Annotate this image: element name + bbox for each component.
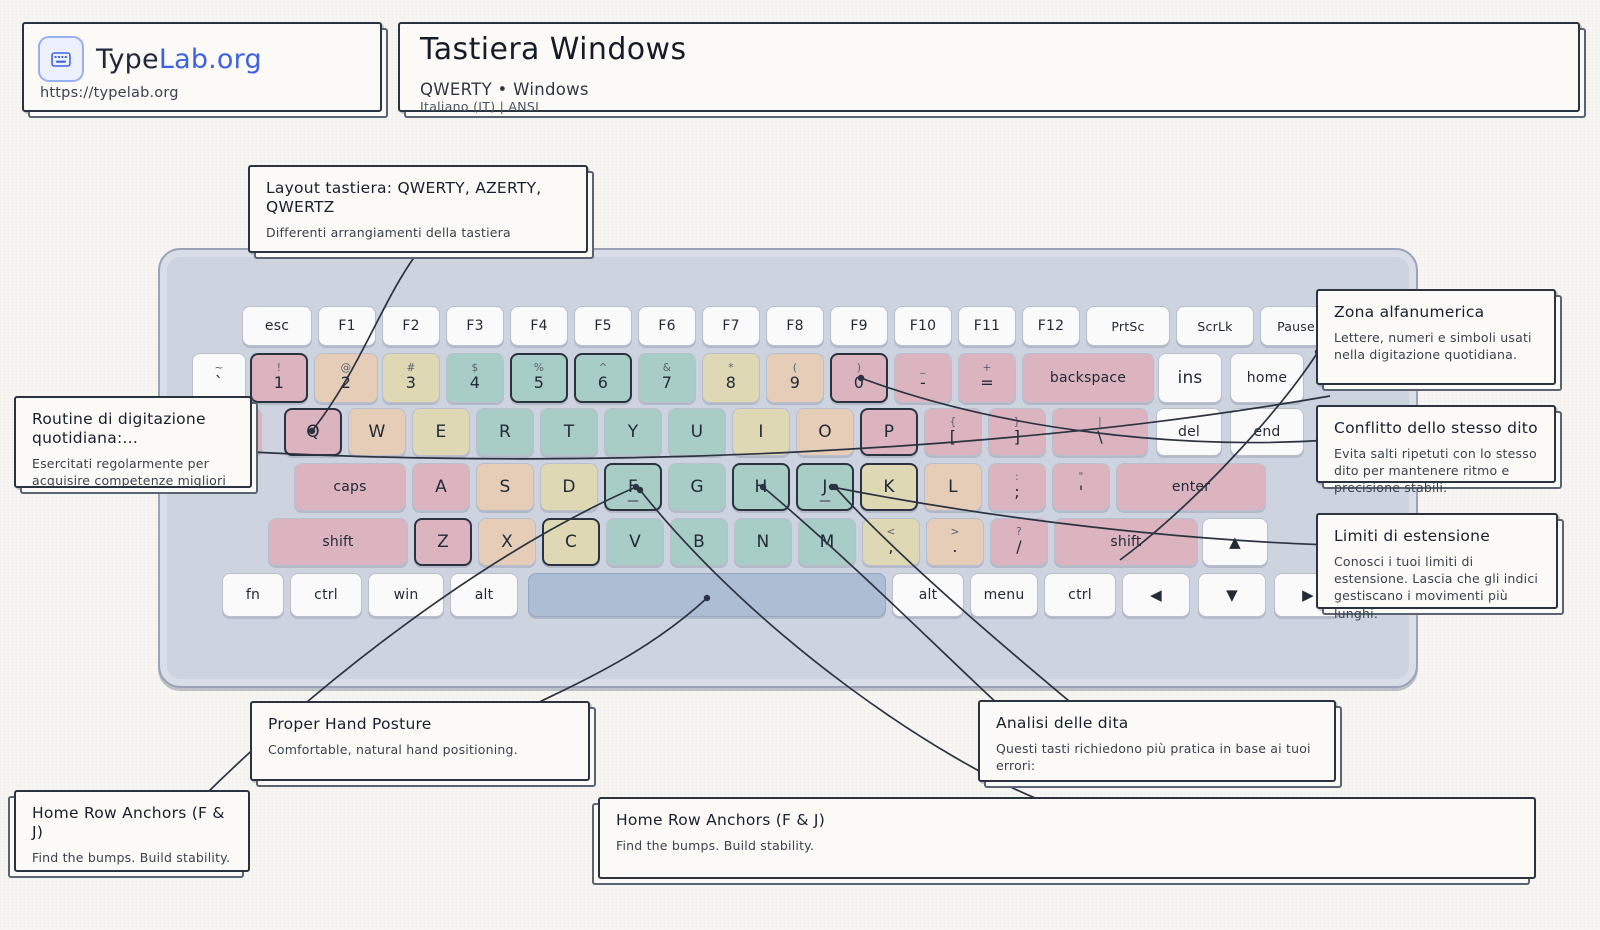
key-l[interactable]: L (924, 463, 982, 511)
callout-title: Proper Hand Posture (268, 715, 572, 734)
callout-title: Limiti di estensione (1334, 527, 1540, 546)
callout-title: Layout tastiera: QWERTY, AZERTY, QWERTZ (266, 179, 570, 217)
key-legend: B (693, 532, 705, 552)
key-base-legend: ' (1079, 484, 1084, 500)
callout-title: Conflitto dello stesso dito (1334, 419, 1538, 438)
key-legend: N (757, 532, 770, 552)
key-shift-legend: $ (472, 363, 479, 374)
key-legend: U (691, 422, 704, 442)
key-base-legend: , (888, 539, 893, 555)
callout-title: Analisi delle dita (996, 714, 1318, 733)
key-legend: del (1178, 424, 1200, 440)
key-legend: ▼ (1226, 586, 1238, 604)
key-1[interactable]: !1 (250, 353, 308, 403)
page-title: Tastiera Windows (420, 32, 687, 67)
key-shift-legend: : (1015, 472, 1019, 483)
callout-home-row-anchors-left: Home Row Anchors (F & J) Find the bumps.… (14, 790, 250, 872)
key-legend: V (629, 532, 641, 552)
key-shift-legend: ? (1016, 527, 1022, 538)
key-legend: enter (1172, 479, 1210, 495)
key-shift-legend: ~ (215, 363, 224, 374)
key-[interactable]: }] (988, 408, 1046, 456)
key-g[interactable]: G (668, 463, 726, 511)
home-row-bump (820, 500, 831, 502)
callout-title: Routine di digitazione quotidiana:... (32, 410, 234, 448)
key-legend: P (884, 422, 894, 442)
key-[interactable]: ?/ (990, 518, 1048, 566)
key-legend: F9 (850, 318, 867, 334)
key-base-legend: . (952, 539, 957, 555)
callout-body: Find the bumps. Build stability. (32, 849, 232, 866)
callout-routine: Routine di digitazione quotidiana:... Es… (14, 396, 252, 488)
key-ctrl[interactable]: ctrl (290, 573, 362, 617)
key-shift-legend: { (950, 417, 957, 428)
key-ins[interactable]: ins (1158, 353, 1222, 403)
key-y[interactable]: Y (604, 408, 662, 456)
key-f4[interactable]: F4 (510, 306, 568, 346)
key-base-legend: 7 (662, 375, 672, 391)
key-legend: F (628, 477, 638, 497)
key-base-legend: 2 (341, 375, 351, 391)
key-legend: K (883, 477, 894, 497)
key-base-legend: 3 (406, 375, 416, 391)
key-legend: Y (628, 422, 639, 442)
key-legend: ▶ (1302, 586, 1314, 604)
key-base-legend: ` (215, 375, 223, 391)
key-legend: I (758, 422, 763, 442)
key-legend: win (394, 587, 419, 603)
key-shift-legend: * (728, 363, 733, 374)
key-o[interactable]: O (796, 408, 854, 456)
key-j[interactable]: J (796, 463, 854, 511)
key-legend: esc (265, 318, 289, 334)
key-legend: D (562, 477, 575, 497)
key-legend: ctrl (314, 587, 338, 603)
locale-meta: Italiano (IT) | ANSI (420, 99, 539, 114)
callout-layout: Layout tastiera: QWERTY, AZERTY, QWERTZ … (248, 165, 588, 253)
key-legend: X (501, 532, 513, 552)
key-base-legend: / (1016, 539, 1022, 555)
key-z[interactable]: Z (414, 518, 472, 566)
brand-wordmark: TypeLab.org (96, 44, 262, 75)
key-ctrl[interactable]: ctrl (1044, 573, 1116, 617)
key-shift[interactable]: shift (1054, 518, 1198, 566)
key-legend: backspace (1050, 370, 1126, 386)
brand-url[interactable]: https://typelab.org (40, 85, 179, 101)
callout-reach-limits: Limiti di estensione Conosci i tuoi limi… (1316, 513, 1558, 609)
key-s[interactable]: S (476, 463, 534, 511)
key-base-legend: 1 (274, 375, 284, 391)
key-legend: G (690, 477, 703, 497)
key-f1[interactable]: F1 (318, 306, 376, 346)
key-legend: ◀ (1150, 586, 1162, 604)
key-home[interactable]: home (1230, 353, 1304, 403)
space-key[interactable] (528, 573, 886, 617)
key-win[interactable]: win (368, 573, 444, 617)
key-legend: E (436, 422, 447, 442)
key-legend: ctrl (1068, 587, 1092, 603)
callout-body: Lettere, numeri e simboli usati nella di… (1334, 329, 1538, 364)
key-[interactable]: ▲ (1202, 518, 1268, 566)
key-r[interactable]: R (476, 408, 534, 456)
key-esc[interactable]: esc (242, 306, 312, 346)
key-[interactable]: {[ (924, 408, 982, 456)
key-e[interactable]: E (412, 408, 470, 456)
key-[interactable]: += (958, 353, 1016, 403)
key-alt[interactable]: alt (892, 573, 964, 617)
key-shift-legend: _ (920, 363, 925, 374)
key-legend: end (1254, 424, 1281, 440)
keyboard-icon (38, 36, 84, 82)
callout-body: Questi tasti richiedono più pratica in b… (996, 740, 1318, 775)
key-c[interactable]: C (542, 518, 600, 566)
key-shift-legend: } (1014, 417, 1021, 428)
key-legend: F11 (974, 318, 1000, 334)
key-legend: shift (322, 534, 353, 550)
key-shift-legend: " (1078, 472, 1083, 483)
key-legend: M (820, 532, 835, 552)
key-legend: F1 (338, 318, 355, 334)
key-2[interactable]: @2 (314, 353, 378, 403)
key-legend: menu (984, 587, 1025, 603)
key-end[interactable]: end (1230, 408, 1304, 456)
key-menu[interactable]: menu (970, 573, 1038, 617)
key-base-legend: - (920, 375, 926, 391)
key-legend: F3 (466, 318, 483, 334)
key-[interactable]: <, (862, 518, 920, 566)
callout-body: Comfortable, natural hand positioning. (268, 741, 572, 758)
callout-body: Find the bumps. Build stability. (616, 837, 1518, 854)
brand-panel: TypeLab.org https://typelab.org (22, 22, 382, 112)
key-f5[interactable]: F5 (574, 306, 632, 346)
key-legend: PrtSc (1111, 319, 1144, 334)
key-shift-legend: ^ (599, 363, 608, 374)
key-n[interactable]: N (734, 518, 792, 566)
key-[interactable]: :; (988, 463, 1046, 511)
key-legend: F10 (910, 318, 936, 334)
key-f[interactable]: F (604, 463, 662, 511)
title-panel: Tastiera Windows QWERTY • Windows Italia… (398, 22, 1580, 112)
key-base-legend: 0 (854, 375, 864, 391)
key-m[interactable]: M (798, 518, 856, 566)
key-shift-legend: # (407, 363, 416, 374)
key-f3[interactable]: F3 (446, 306, 504, 346)
key-f9[interactable]: F9 (830, 306, 888, 346)
key-f12[interactable]: F12 (1022, 306, 1080, 346)
key-legend: F8 (786, 318, 803, 334)
key-shift-legend: & (663, 363, 671, 374)
home-row-bump (628, 500, 639, 502)
key-f10[interactable]: F10 (894, 306, 952, 346)
key-backspace[interactable]: backspace (1022, 353, 1154, 403)
key-5[interactable]: %5 (510, 353, 568, 403)
key-b[interactable]: B (670, 518, 728, 566)
key-base-legend: 9 (790, 375, 800, 391)
key-shift-legend: > (951, 527, 960, 538)
key-legend: Z (437, 532, 449, 552)
key-legend: F4 (530, 318, 547, 334)
key-shift-legend: | (1098, 417, 1102, 428)
key-legend: ins (1178, 368, 1203, 388)
key-d[interactable]: D (540, 463, 598, 511)
key-8[interactable]: *8 (702, 353, 760, 403)
key-legend: shift (1110, 534, 1141, 550)
key-legend: caps (333, 479, 366, 495)
key-f7[interactable]: F7 (702, 306, 760, 346)
key-4[interactable]: $4 (446, 353, 504, 403)
key-shift-legend: % (534, 363, 544, 374)
key-shift-legend: @ (341, 363, 352, 374)
key-shift-legend: ! (277, 363, 281, 374)
key-legend: Q (306, 422, 320, 442)
key-7[interactable]: &7 (638, 353, 696, 403)
key-legend: alt (919, 587, 938, 603)
key-shift-legend: < (887, 527, 896, 538)
key-3[interactable]: #3 (382, 353, 440, 403)
key-legend: home (1247, 370, 1288, 386)
key-shift-legend: + (983, 363, 992, 374)
key-legend: F7 (722, 318, 739, 334)
key-legend: O (818, 422, 832, 442)
callout-body: Evita salti ripetuti con lo stesso dito … (1334, 445, 1538, 497)
key-v[interactable]: V (606, 518, 664, 566)
callout-hand-posture: Proper Hand Posture Comfortable, natural… (250, 701, 590, 781)
key-legend: A (435, 477, 447, 497)
key-f6[interactable]: F6 (638, 306, 696, 346)
key-f8[interactable]: F8 (766, 306, 824, 346)
callout-title: Home Row Anchors (F & J) (616, 811, 1518, 830)
key-legend: alt (475, 587, 494, 603)
key-[interactable]: _- (894, 353, 952, 403)
key-legend: H (755, 477, 768, 497)
key-legend: ▲ (1229, 533, 1241, 551)
key-legend: F12 (1038, 318, 1064, 334)
key-legend: fn (246, 587, 260, 603)
key-shift-legend: ) (857, 363, 861, 374)
key-base-legend: \ (1097, 429, 1103, 445)
key-base-legend: = (980, 375, 994, 391)
key-legend: F2 (402, 318, 419, 334)
key-k[interactable]: K (860, 463, 918, 511)
key-p[interactable]: P (860, 408, 918, 456)
callout-same-finger-bigram: Conflitto dello stesso dito Evita salti … (1316, 405, 1556, 483)
key-shift[interactable]: shift (268, 518, 408, 566)
key-shift-legend: ( (793, 363, 797, 374)
key-legend: L (948, 477, 958, 497)
key-base-legend: 6 (598, 375, 608, 391)
callout-alphanumeric-zone: Zona alfanumerica Lettere, numeri e simb… (1316, 289, 1556, 385)
brand-name-part2: Lab.org (159, 44, 262, 75)
key-del[interactable]: del (1156, 408, 1222, 456)
callout-title: Zona alfanumerica (1334, 303, 1538, 322)
key-legend: F6 (658, 318, 675, 334)
key-9[interactable]: (9 (766, 353, 824, 403)
key-f11[interactable]: F11 (958, 306, 1016, 346)
key-alt[interactable]: alt (450, 573, 518, 617)
key-prtsc[interactable]: PrtSc (1086, 306, 1170, 346)
key-x[interactable]: X (478, 518, 536, 566)
key-base-legend: 4 (470, 375, 480, 391)
brand-name-part1: Type (96, 44, 159, 75)
callout-body: Conosci i tuoi limiti di estensione. Las… (1334, 553, 1540, 622)
key-a[interactable]: A (412, 463, 470, 511)
callout-finger-analysis: Analisi delle dita Questi tasti richiedo… (978, 700, 1336, 782)
key-legend: R (499, 422, 511, 442)
key-legend: T (564, 422, 575, 442)
key-q[interactable]: Q (284, 408, 342, 456)
key-u[interactable]: U (668, 408, 726, 456)
key-scrlk[interactable]: ScrLk (1176, 306, 1254, 346)
key-legend: C (565, 532, 577, 552)
callout-home-row-anchors-wide: Home Row Anchors (F & J) Find the bumps.… (598, 797, 1536, 879)
key-[interactable]: ◀ (1122, 573, 1190, 617)
key-base-legend: [ (950, 429, 956, 445)
callout-body: Esercitati regolarmente per acquisire co… (32, 455, 234, 490)
key-base-legend: 5 (534, 375, 544, 391)
key-legend: S (500, 477, 511, 497)
key-legend: W (368, 422, 385, 442)
key-0[interactable]: )0 (830, 353, 888, 403)
key-base-legend: 8 (726, 375, 736, 391)
key-legend: J (822, 477, 827, 497)
key-base-legend: ] (1014, 429, 1020, 445)
key-legend: ScrLk (1197, 319, 1232, 334)
key-enter[interactable]: enter (1116, 463, 1266, 511)
key-6[interactable]: ^6 (574, 353, 632, 403)
key-legend: F5 (594, 318, 611, 334)
callout-title: Home Row Anchors (F & J) (32, 804, 232, 842)
key-caps[interactable]: caps (294, 463, 406, 511)
callout-body: Differenti arrangiamenti della tastiera (266, 224, 570, 241)
key-base-legend: ; (1014, 484, 1020, 500)
key-[interactable]: ▼ (1198, 573, 1266, 617)
key-t[interactable]: T (540, 408, 598, 456)
key-[interactable]: |\ (1052, 408, 1148, 456)
layout-subtitle: QWERTY • Windows (420, 80, 589, 99)
key-w[interactable]: W (348, 408, 406, 456)
key-f2[interactable]: F2 (382, 306, 440, 346)
key-fn[interactable]: fn (222, 573, 284, 617)
key-i[interactable]: I (732, 408, 790, 456)
key-h[interactable]: H (732, 463, 790, 511)
key-[interactable]: "' (1052, 463, 1110, 511)
key-[interactable]: >. (926, 518, 984, 566)
key-legend: Pause (1277, 319, 1315, 334)
